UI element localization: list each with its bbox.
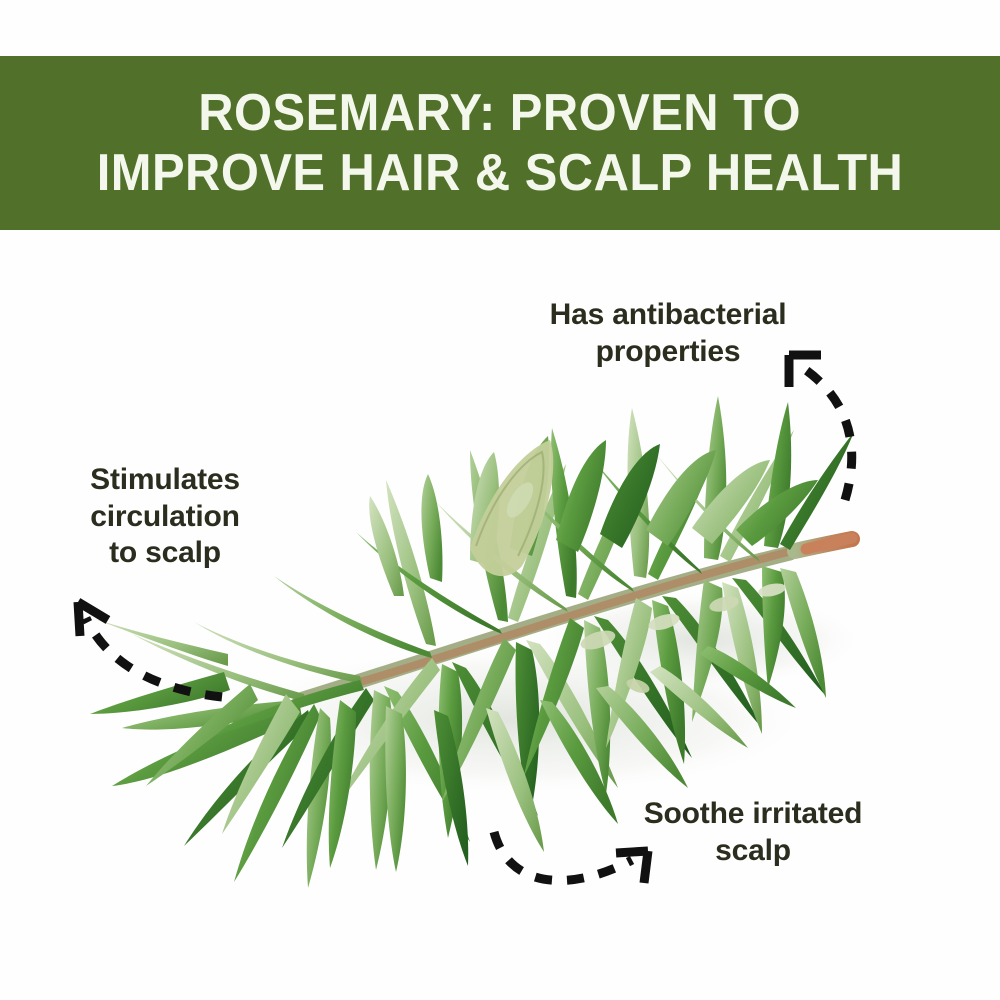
callout-label-soothe: Soothe irritated scalp [588,796,918,869]
header-banner: ROSEMARY: PROVEN TO IMPROVE HAIR & SCALP… [0,56,1000,230]
infographic-page: ROSEMARY: PROVEN TO IMPROVE HAIR & SCALP… [0,0,1000,1000]
banner-title-line-2: IMPROVE HAIR & SCALP HEALTH [97,143,904,203]
callout-label-antibacterial: Has antibacterial properties [478,297,858,370]
banner-title-line-1: ROSEMARY: PROVEN TO [199,83,802,143]
callout-label-circulation: Stimulates circulation to scalp [40,462,290,572]
